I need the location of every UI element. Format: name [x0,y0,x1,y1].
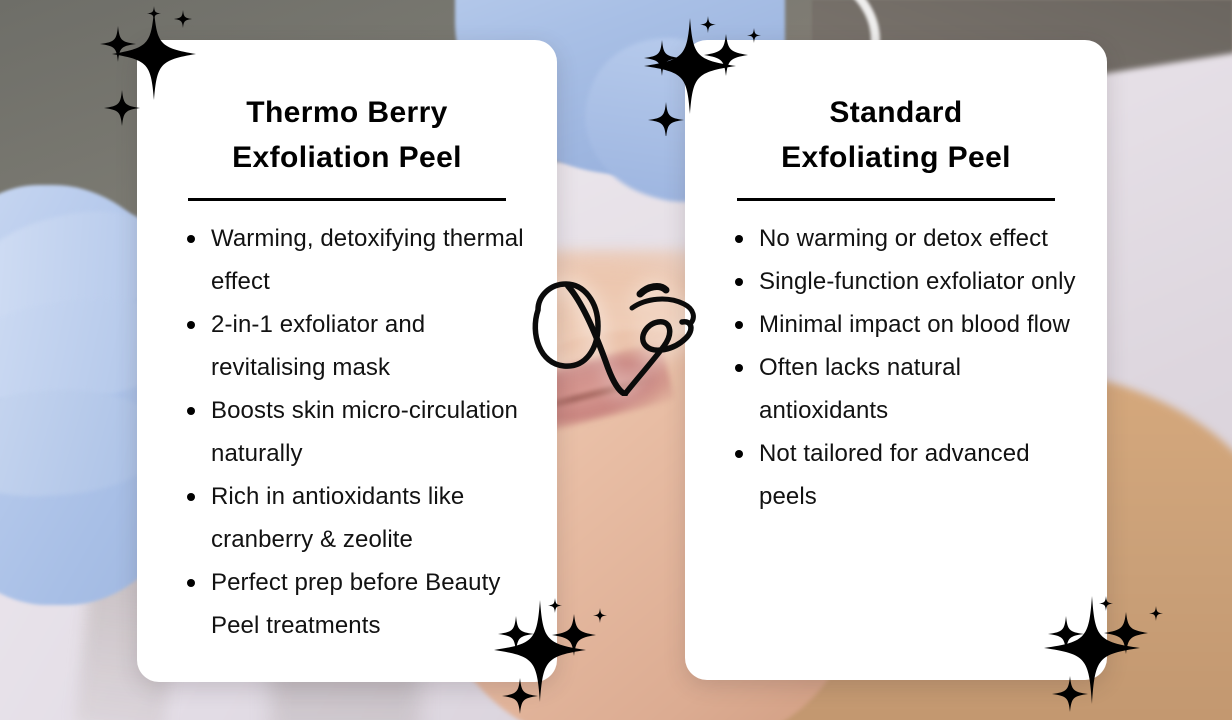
right-card-divider [737,198,1055,201]
right-card-title-line1: Standard [711,90,1081,135]
list-item: 2-in-1 exfoliator and revitalising mask [187,303,539,389]
list-item: No warming or detox effect [735,217,1089,260]
right-card-title-line2: Exfoliating Peel [711,135,1081,180]
left-card-bullet-list: Warming, detoxifying thermal effect 2-in… [137,217,557,647]
left-card-title-line2: Exfoliation Peel [163,135,531,180]
list-item: Not tailored for advanced peels [735,432,1089,518]
right-card-title: Standard Exfoliating Peel [685,40,1107,180]
list-item: Boosts skin micro-circulation naturally [187,389,539,475]
right-comparison-card: Standard Exfoliating Peel No warming or … [685,40,1107,680]
left-card-title: Thermo Berry Exfoliation Peel [137,40,557,180]
list-item: Often lacks natural antioxidants [735,346,1089,432]
list-item: Rich in antioxidants like cranberry & ze… [187,475,539,561]
infographic-canvas: Thermo Berry Exfoliation Peel Warming, d… [0,0,1232,720]
left-comparison-card: Thermo Berry Exfoliation Peel Warming, d… [137,40,557,682]
right-card-bullet-list: No warming or detox effect Single-functi… [685,217,1107,518]
vs-monogram-icon [524,272,710,396]
left-card-divider [188,198,506,201]
list-item: Minimal impact on blood flow [735,303,1089,346]
list-item: Perfect prep before Beauty Peel treatmen… [187,561,539,647]
left-card-title-line1: Thermo Berry [163,90,531,135]
list-item: Warming, detoxifying thermal effect [187,217,539,303]
list-item: Single-function exfoliator only [735,260,1089,303]
